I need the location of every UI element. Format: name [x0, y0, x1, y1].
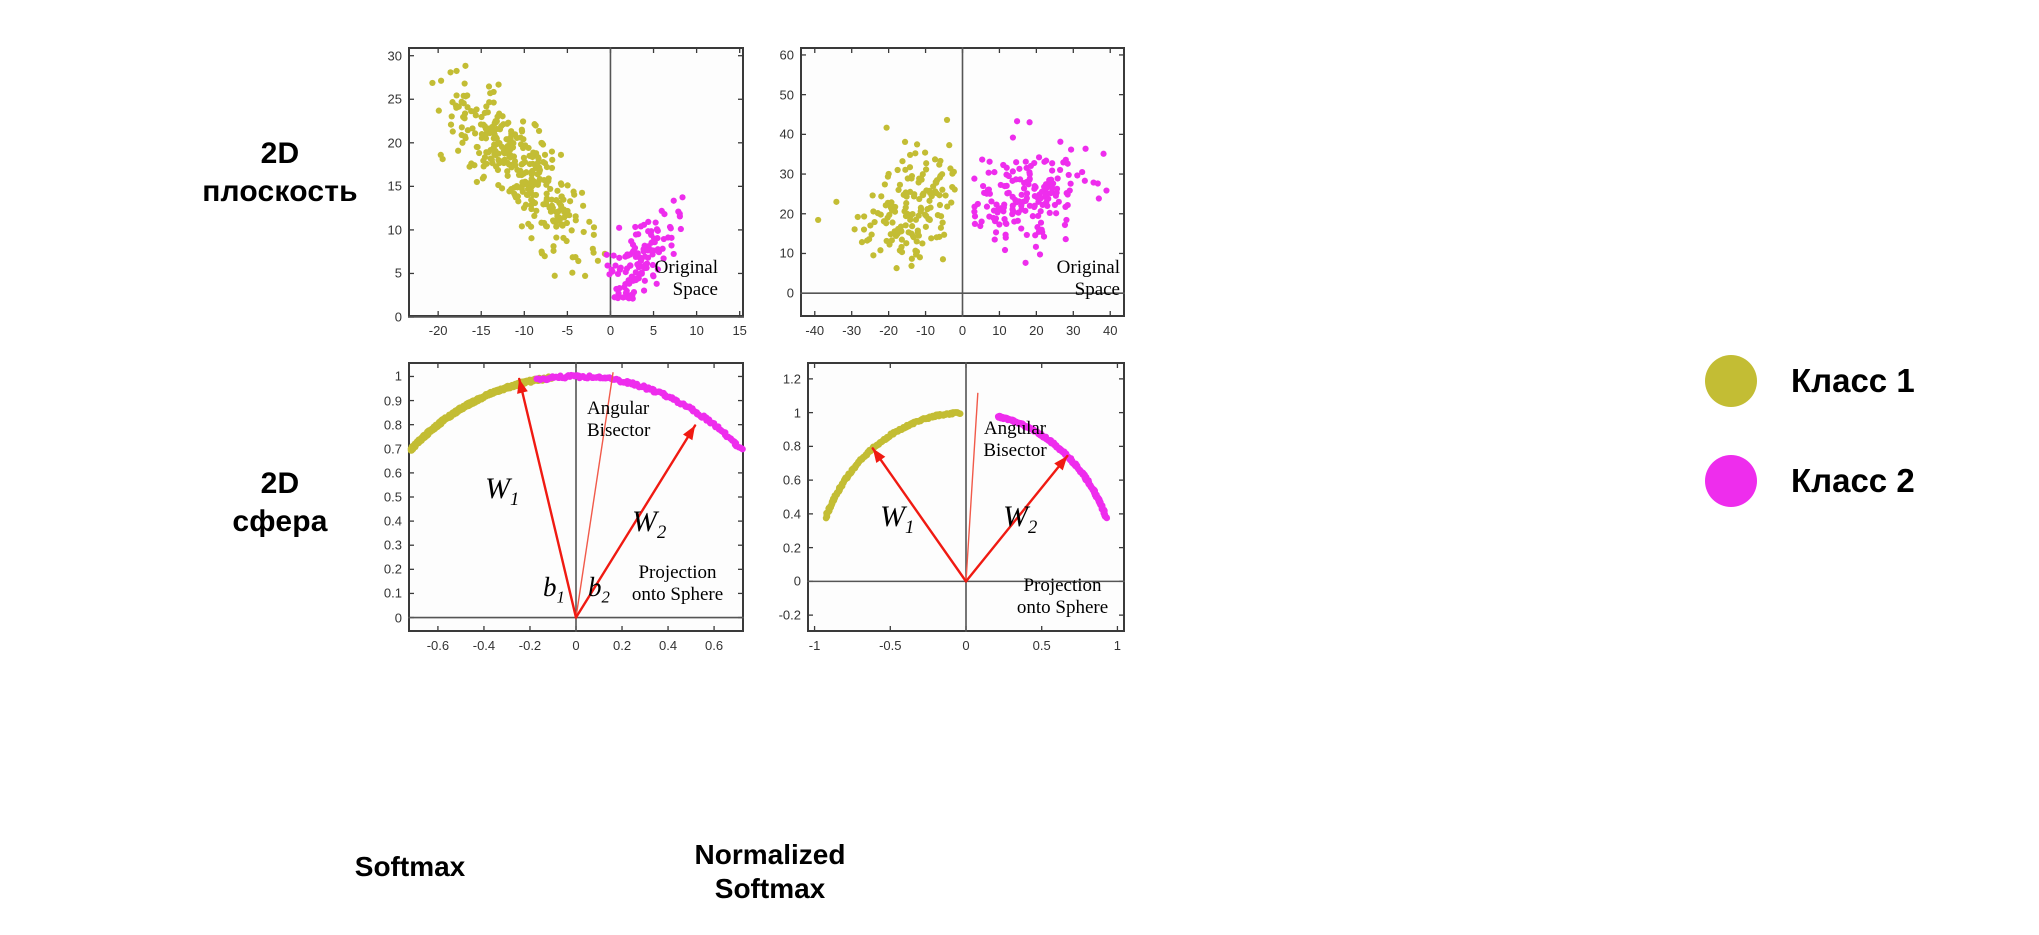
annotation-line-2: Bisector: [587, 420, 707, 442]
y-tick-label: 0: [766, 286, 794, 301]
bias-label-b1: b1: [543, 572, 565, 607]
vector-label-w2-base: W: [1003, 500, 1028, 533]
x-tick-label: 40: [1103, 323, 1117, 338]
annotation-line-1: Projection: [615, 562, 740, 584]
y-tick-label: 50: [766, 87, 794, 102]
y-tick-label: 0.9: [374, 393, 402, 408]
vector-label-w1-base: W: [880, 500, 905, 533]
annotation-line-2: onto Sphere: [1000, 597, 1125, 619]
annotation-angular-bisector: Angular Bisector: [587, 398, 707, 442]
y-tick-label: 0.5: [374, 490, 402, 505]
column-label-normalized-softmax-line1: Normalized: [655, 838, 885, 872]
y-tick-label: 0.3: [374, 538, 402, 553]
y-tick-label: 0.6: [773, 473, 801, 488]
annotation-line-1: Angular: [960, 418, 1070, 440]
y-tick-label: 0.8: [773, 439, 801, 454]
vector-label-w1: W1: [880, 500, 914, 539]
vector-label-w1-base: W: [485, 472, 510, 505]
legend: Класс 1 Класс 2: [1705, 355, 2025, 555]
x-tick-label: -15: [472, 323, 491, 338]
y-tick-label: 0: [374, 310, 402, 325]
column-label-softmax: Softmax: [300, 850, 520, 884]
legend-label-class-2: Класс 2: [1791, 462, 1915, 500]
y-tick-label: 10: [374, 222, 402, 237]
vector-label-w2: W2: [1003, 500, 1037, 539]
vector-label-w1: W1: [485, 472, 519, 511]
annotation-line-2: onto Sphere: [615, 584, 740, 606]
x-tick-label: 0: [962, 638, 969, 653]
x-tick-label: -1: [809, 638, 821, 653]
x-tick-label: -10: [916, 323, 935, 338]
row-label-2d-plane-line2: плоскость: [170, 173, 390, 211]
legend-swatch-class-2: [1705, 455, 1757, 507]
x-tick-label: 5: [650, 323, 657, 338]
vector-label-w2-sub: 2: [1028, 517, 1037, 538]
legend-label-class-1: Класс 1: [1791, 362, 1915, 400]
y-tick-label: 20: [374, 135, 402, 150]
legend-item-class-2: Класс 2: [1705, 455, 2025, 507]
x-tick-label: 20: [1029, 323, 1043, 338]
x-tick-label: -0.6: [427, 638, 449, 653]
bias-label-b2: b2: [588, 572, 610, 607]
legend-swatch-class-1: [1705, 355, 1757, 407]
vector-label-w1-sub: 1: [905, 517, 914, 538]
x-tick-label: 0.4: [659, 638, 677, 653]
x-tick-label: 10: [689, 323, 703, 338]
x-tick-label: 0.2: [613, 638, 631, 653]
chart-bottom-left-projection-sphere-softmax: 00.10.20.30.40.50.60.70.80.91-0.6-0.4-0.…: [375, 350, 755, 650]
chart-bottom-right-projection-sphere-normalized-softmax: -0.200.20.40.60.811.2-1-0.500.51 Angular…: [760, 350, 1140, 650]
annotation-line-2: Bisector: [960, 440, 1070, 462]
x-tick-label: -0.4: [473, 638, 495, 653]
y-tick-label: 30: [766, 167, 794, 182]
x-tick-label: 15: [732, 323, 746, 338]
row-label-2d-sphere-line2: сфера: [180, 503, 380, 541]
bias-label-b1-base: b: [543, 572, 557, 602]
bias-label-b1-sub: 1: [557, 587, 565, 606]
vector-label-w2-base: W: [632, 505, 657, 538]
x-tick-label: -20: [429, 323, 448, 338]
x-tick-label: -10: [515, 323, 534, 338]
annotation-projection-onto-sphere: Projection onto Sphere: [1000, 575, 1125, 619]
y-tick-label: 0.4: [773, 506, 801, 521]
y-tick-label: 10: [766, 246, 794, 261]
chart-top-left-original-space-softmax: 051015202530-20-15-10-5051015 Original S…: [375, 35, 755, 355]
x-tick-label: 1: [1114, 638, 1121, 653]
x-tick-label: -40: [805, 323, 824, 338]
x-tick-label: 0.5: [1033, 638, 1051, 653]
row-label-2d-plane-line1: 2D: [170, 135, 390, 173]
y-tick-label: 20: [766, 206, 794, 221]
annotation-line-1: Projection: [1000, 575, 1125, 597]
y-tick-label: 1: [773, 405, 801, 420]
annotation-original-space: Original Space: [975, 257, 1120, 301]
y-tick-label: 0.6: [374, 465, 402, 480]
y-tick-label: 25: [374, 92, 402, 107]
annotation-line-2: Space: [975, 279, 1120, 301]
y-tick-label: 60: [766, 47, 794, 62]
x-tick-label: 0: [959, 323, 966, 338]
scatter-canvas: [760, 35, 1140, 355]
x-tick-label: -5: [562, 323, 574, 338]
y-tick-label: 0.2: [773, 540, 801, 555]
column-label-normalized-softmax-line2: Softmax: [655, 872, 885, 906]
x-tick-label: -0.5: [879, 638, 901, 653]
row-label-2d-sphere: 2D сфера: [180, 465, 380, 540]
vector-label-w2: W2: [632, 505, 666, 544]
y-tick-label: 0.7: [374, 441, 402, 456]
y-tick-label: 0.2: [374, 562, 402, 577]
y-tick-label: 1.2: [773, 371, 801, 386]
x-tick-label: -0.2: [519, 638, 541, 653]
x-tick-label: 0: [572, 638, 579, 653]
vector-label-w1-sub: 1: [510, 489, 519, 510]
chart-top-right-original-space-normalized-softmax: 0102030405060-40-30-20-10010203040 Origi…: [760, 35, 1140, 355]
figure-root: 2D плоскость 2D сфера Softmax Normalized…: [0, 0, 2039, 935]
y-tick-label: 40: [766, 127, 794, 142]
y-tick-label: 0.1: [374, 586, 402, 601]
x-tick-label: 30: [1066, 323, 1080, 338]
y-tick-label: 0.4: [374, 514, 402, 529]
annotation-line-1: Angular: [587, 398, 707, 420]
x-tick-label: 0: [607, 323, 614, 338]
row-label-2d-plane: 2D плоскость: [170, 135, 390, 210]
x-tick-label: -20: [879, 323, 898, 338]
y-tick-label: 0: [773, 574, 801, 589]
y-tick-label: 0: [374, 610, 402, 625]
y-tick-label: 1: [374, 369, 402, 384]
x-tick-label: 10: [992, 323, 1006, 338]
legend-item-class-1: Класс 1: [1705, 355, 2025, 407]
y-tick-label: 30: [374, 48, 402, 63]
annotation-line-1: Original: [590, 257, 718, 279]
y-tick-label: 15: [374, 179, 402, 194]
bias-label-b2-sub: 2: [602, 587, 610, 606]
annotation-original-space: Original Space: [590, 257, 718, 301]
column-label-normalized-softmax: Normalized Softmax: [655, 838, 885, 905]
vector-label-w2-sub: 2: [657, 522, 666, 543]
annotation-line-2: Space: [590, 279, 718, 301]
scatter-canvas: [375, 35, 755, 355]
y-tick-label: 0.8: [374, 417, 402, 432]
annotation-line-1: Original: [975, 257, 1120, 279]
x-tick-label: -30: [842, 323, 861, 338]
y-tick-label: 5: [374, 266, 402, 281]
bias-label-b2-base: b: [588, 572, 602, 602]
y-tick-label: -0.2: [773, 608, 801, 623]
annotation-projection-onto-sphere: Projection onto Sphere: [615, 562, 740, 606]
row-label-2d-sphere-line1: 2D: [180, 465, 380, 503]
annotation-angular-bisector: Angular Bisector: [960, 418, 1070, 462]
x-tick-label: 0.6: [705, 638, 723, 653]
